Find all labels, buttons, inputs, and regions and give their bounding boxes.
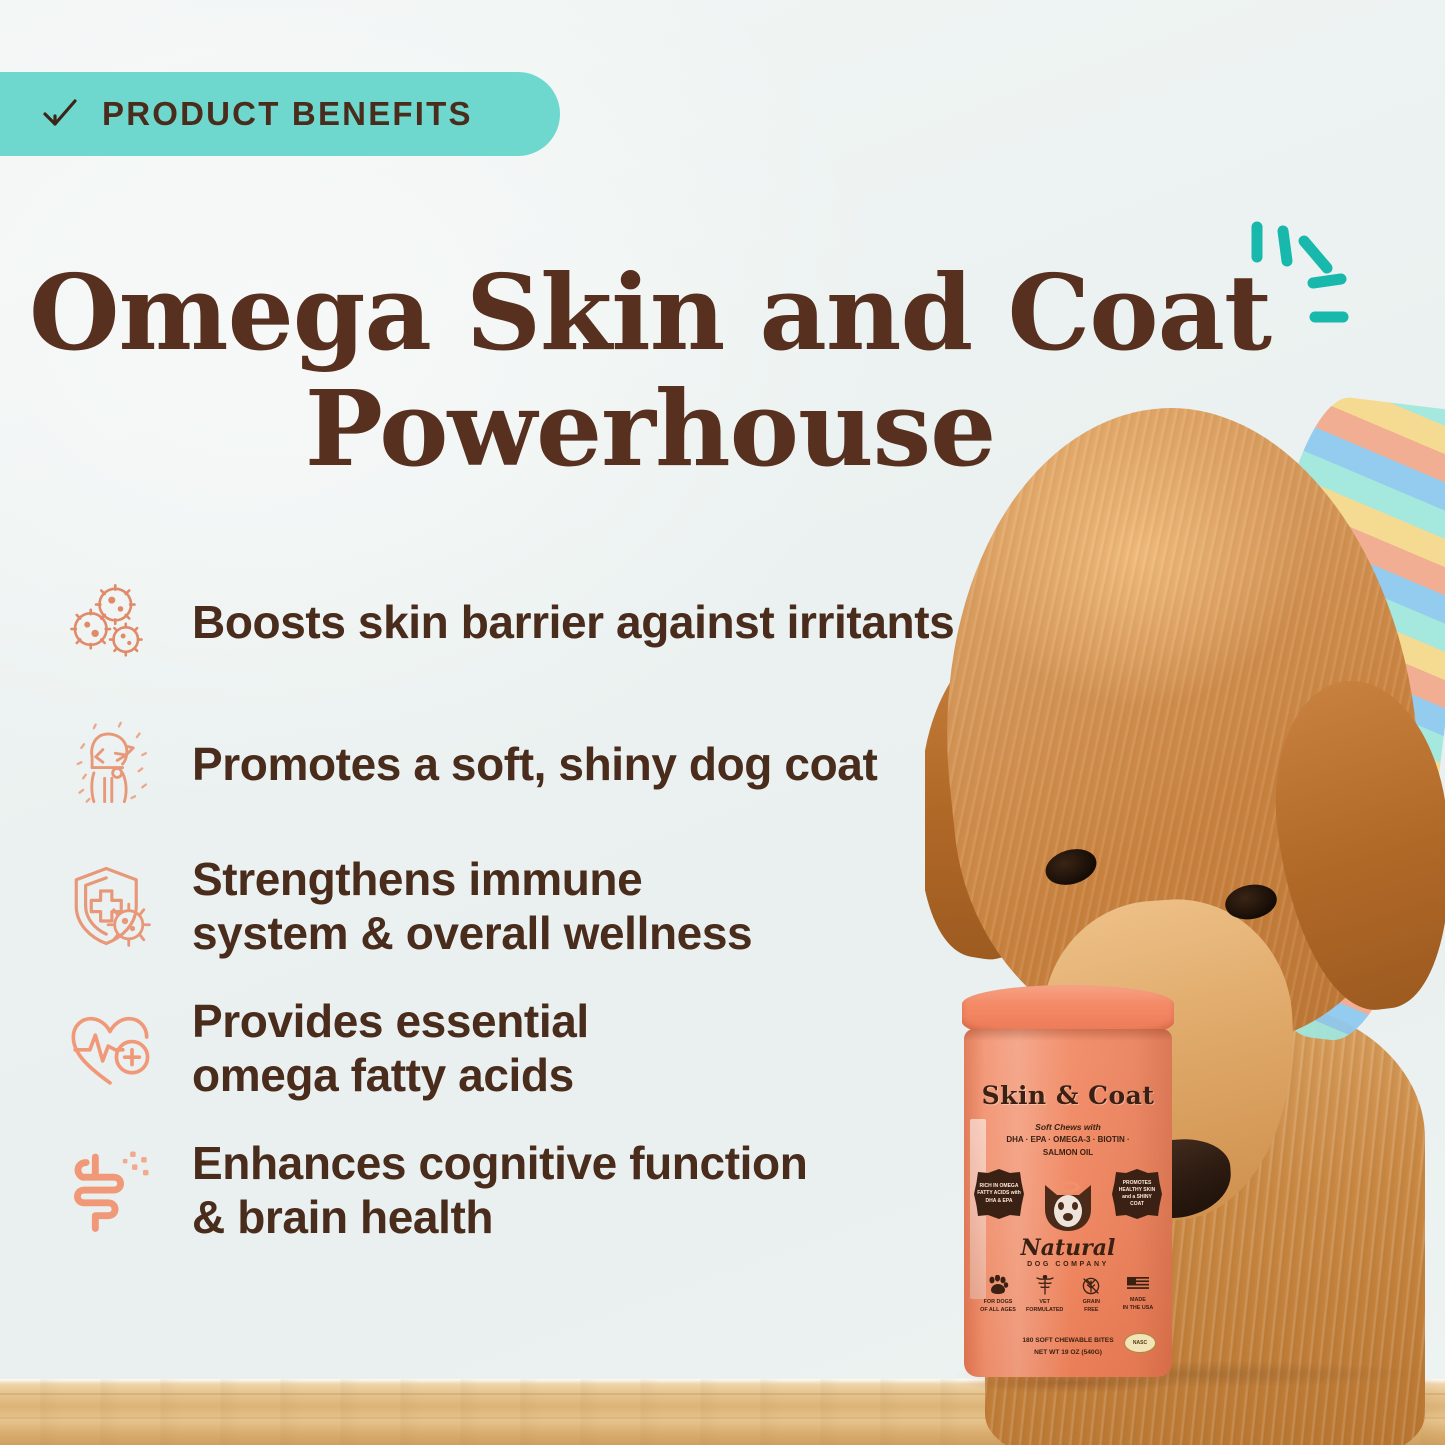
brand-logo: Natural DOG COMPANY bbox=[964, 1179, 1172, 1268]
benefit-text: Enhances cognitive function& brain healt… bbox=[192, 1136, 807, 1245]
benefit-item: Boosts skin barrier against irritants bbox=[62, 566, 1072, 678]
teal-burst-icon bbox=[1243, 213, 1363, 353]
jar-subtitle-line-3: SALMON OIL bbox=[978, 1147, 1158, 1159]
benefit-item: Promotes a soft, shiny dog coat bbox=[62, 708, 1072, 820]
frenchie-dog-logo-icon bbox=[1035, 1179, 1101, 1235]
benefit-item: Strengthens immunesystem & overall welln… bbox=[62, 850, 1072, 962]
benefit-text: Strengthens immunesystem & overall welln… bbox=[192, 852, 752, 961]
jar-claim-label: VETFORMULATED bbox=[1026, 1298, 1063, 1314]
jar-claims-row: FOR DOGSOF ALL AGES VETFORMULATED bbox=[976, 1275, 1160, 1314]
jar-claim: GRAINFREE bbox=[1069, 1275, 1113, 1314]
headline-line-1: Omega Skin and Coat bbox=[29, 251, 1271, 374]
product-jar: Skin & Coat Soft Chews with DHA · EPA · … bbox=[962, 985, 1174, 1383]
jar-product-title: Skin & Coat bbox=[964, 1081, 1172, 1110]
caduceus-icon bbox=[1034, 1275, 1056, 1295]
jar-subtitle-line-1: Soft Chews with bbox=[978, 1121, 1158, 1134]
brand-name: Natural bbox=[1021, 1237, 1116, 1259]
shiny-dog-coat-icon bbox=[62, 716, 158, 812]
product-benefits-infographic: PRODUCT BENEFITS Omega Skin and Coat Pow… bbox=[0, 0, 1445, 1445]
check-icon bbox=[40, 94, 80, 134]
jar-claim: MADEIN THE USA bbox=[1116, 1275, 1160, 1312]
grain-free-icon bbox=[1080, 1275, 1102, 1295]
intestine-icon bbox=[62, 1142, 158, 1238]
jar-subtitle-line-2: DHA · EPA · OMEGA-3 · BIOTIN · bbox=[978, 1134, 1158, 1146]
jar-claim-label: MADEIN THE USA bbox=[1123, 1296, 1154, 1312]
benefits-list: Boosts skin barrier against irritants bbox=[62, 566, 1072, 1276]
usa-flag-icon bbox=[1126, 1275, 1150, 1293]
benefit-item: Provides essentialomega fatty acids bbox=[62, 992, 1072, 1104]
jar-product-subtitle: Soft Chews with DHA · EPA · OMEGA-3 · BI… bbox=[978, 1121, 1158, 1159]
product-benefits-badge: PRODUCT BENEFITS bbox=[0, 72, 560, 156]
jar-body: Skin & Coat Soft Chews with DHA · EPA · … bbox=[964, 1029, 1172, 1377]
headline-line-2: Powerhouse bbox=[0, 371, 1300, 487]
paw-print-icon bbox=[987, 1275, 1009, 1295]
badge-label: PRODUCT BENEFITS bbox=[102, 95, 473, 133]
benefit-text: Boosts skin barrier against irritants bbox=[192, 595, 954, 649]
jar-claim-label: GRAINFREE bbox=[1083, 1298, 1100, 1314]
brand-subtitle: DOG COMPANY bbox=[1027, 1261, 1109, 1268]
benefit-item: Enhances cognitive function& brain healt… bbox=[62, 1134, 1072, 1246]
jar-claim: FOR DOGSOF ALL AGES bbox=[976, 1275, 1020, 1314]
shield-immune-icon bbox=[62, 858, 158, 954]
benefit-text: Provides essentialomega fatty acids bbox=[192, 994, 589, 1103]
heart-pulse-icon bbox=[62, 1000, 158, 1096]
benefit-text: Promotes a soft, shiny dog coat bbox=[192, 737, 877, 791]
jar-claim-label: FOR DOGSOF ALL AGES bbox=[980, 1298, 1016, 1314]
page-title: Omega Skin and Coat Powerhouse bbox=[0, 255, 1300, 488]
jar-claim: VETFORMULATED bbox=[1023, 1275, 1067, 1314]
bacteria-icon bbox=[62, 574, 158, 670]
nasc-certification-seal: NASC bbox=[1124, 1333, 1156, 1353]
